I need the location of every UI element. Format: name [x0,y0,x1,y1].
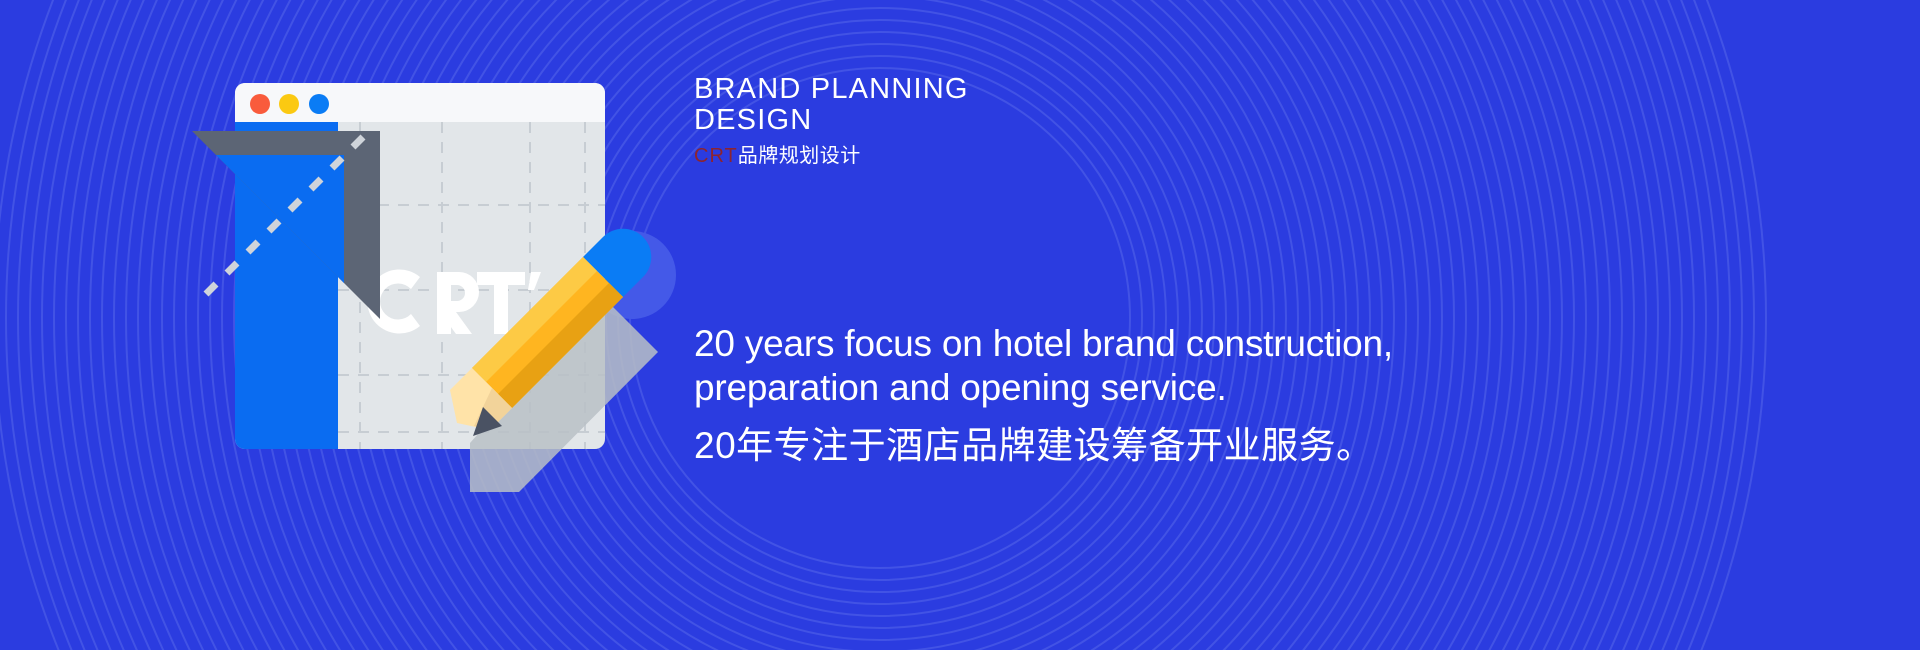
minimize-dot-icon [279,94,299,114]
headline-english-line-2: preparation and opening service. [694,366,1394,410]
eyebrow-line-2: DESIGN [694,105,969,136]
eyebrow-chinese-subtitle: CRT品牌规划设计 [694,145,969,167]
browser-traffic-lights [250,94,329,114]
brand-design-illustration [0,0,760,650]
headline-english-line-1: 20 years focus on hotel brand constructi… [694,322,1394,366]
headline-block: 20 years focus on hotel brand constructi… [694,322,1694,469]
maximize-dot-icon [309,94,329,114]
banner-text-column: BRAND PLANNING DESIGN CRT品牌规划设计 20 years… [694,0,1794,650]
eyebrow-heading-block: BRAND PLANNING DESIGN CRT品牌规划设计 [694,74,969,167]
eyebrow-line-1: BRAND PLANNING [694,74,969,105]
headline-chinese: 20年专注于酒店品牌建设筹备开业服务。 [694,423,1694,469]
crt-brand-mark: CRT [694,145,738,167]
brand-planning-banner: BRAND PLANNING DESIGN CRT品牌规划设计 20 years… [0,0,1920,650]
eyebrow-chinese-text: 品牌规划设计 [738,145,861,167]
close-dot-icon [250,94,270,114]
